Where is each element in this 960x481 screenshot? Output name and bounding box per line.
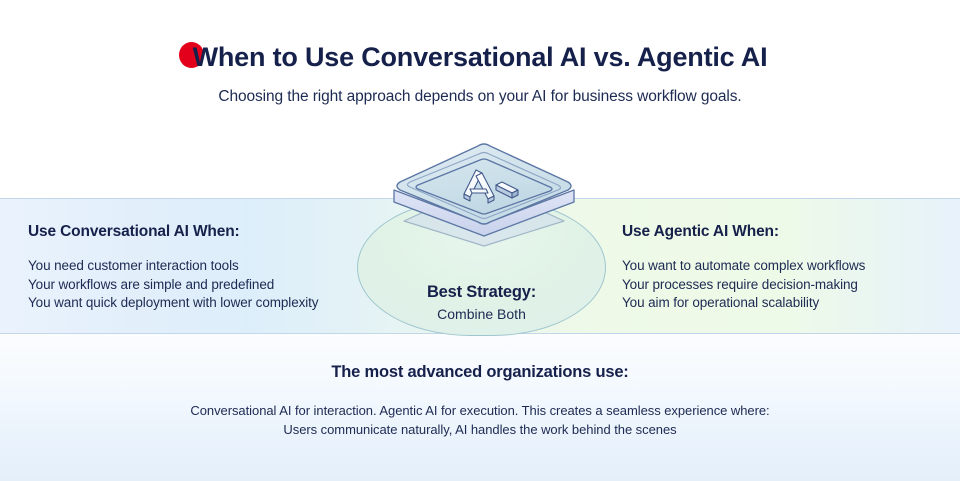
- strategy-value: Combine Both: [357, 306, 606, 322]
- footer-line-2: Users communicate naturally, AI handles …: [0, 420, 960, 439]
- footer: The most advanced organizations use: Con…: [0, 363, 960, 439]
- page-title: When to Use Conversational AI vs. Agenti…: [193, 40, 768, 74]
- conversational-ai-list: You need customer interaction tools Your…: [28, 257, 348, 313]
- agentic-ai-column: Use Agentic AI When: You want to automat…: [622, 223, 942, 313]
- list-item: You want to automate complex workflows: [622, 257, 942, 276]
- list-item: You aim for operational scalability: [622, 294, 942, 313]
- page-subtitle: Choosing the right approach depends on y…: [0, 88, 960, 106]
- conversational-ai-column: Use Conversational AI When: You need cus…: [28, 223, 348, 313]
- footer-line-1: Conversational AI for interaction. Agent…: [0, 401, 960, 420]
- conversational-ai-heading: Use Conversational AI When:: [28, 223, 348, 241]
- agentic-ai-list: You want to automate complex workflows Y…: [622, 257, 942, 313]
- strategy-label: Best Strategy: Combine Both: [357, 283, 606, 322]
- footer-body: Conversational AI for interaction. Agent…: [0, 401, 960, 439]
- strategy-title: Best Strategy:: [357, 283, 606, 302]
- list-item: You need customer interaction tools: [28, 257, 348, 276]
- header: When to Use Conversational AI vs. Agenti…: [0, 0, 960, 106]
- title-wrap: When to Use Conversational AI vs. Agenti…: [193, 40, 768, 74]
- ai-chip-icon: [378, 132, 590, 252]
- list-item: Your processes require decision-making: [622, 276, 942, 295]
- list-item: You want quick deployment with lower com…: [28, 294, 348, 313]
- infographic-canvas: When to Use Conversational AI vs. Agenti…: [0, 0, 960, 481]
- agentic-ai-heading: Use Agentic AI When:: [622, 223, 942, 241]
- footer-heading: The most advanced organizations use:: [0, 363, 960, 382]
- list-item: Your workflows are simple and predefined: [28, 276, 348, 295]
